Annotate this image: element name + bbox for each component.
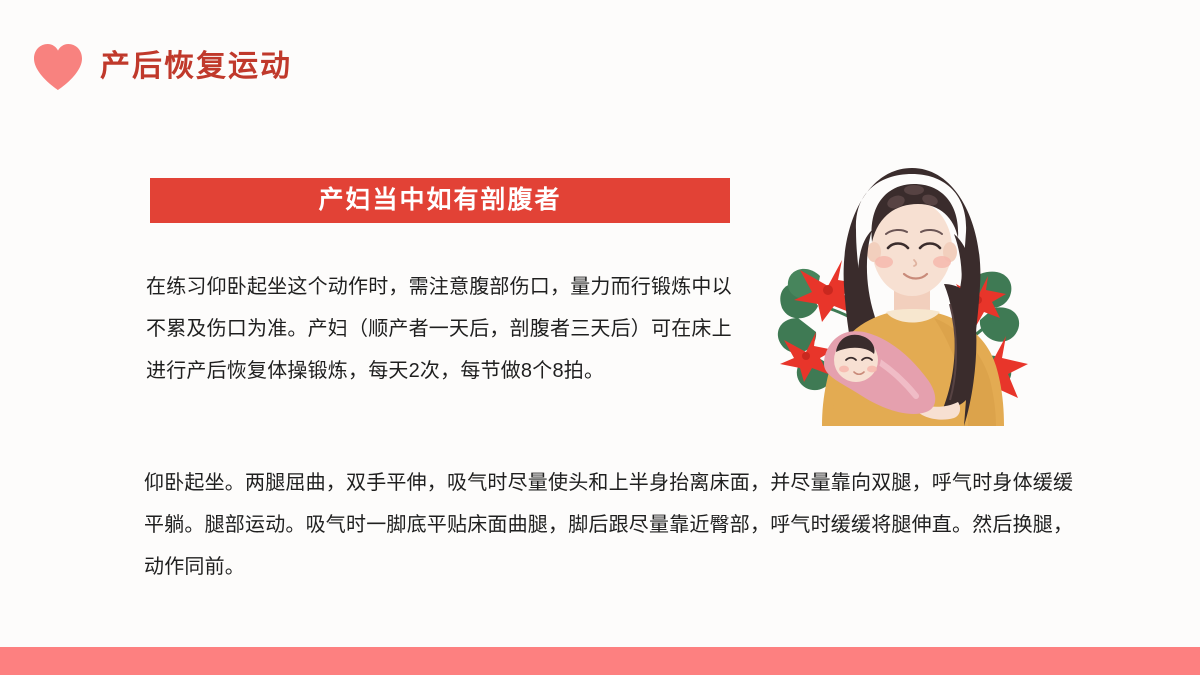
section-banner-label: 产妇当中如有剖腹者 xyxy=(318,188,561,213)
paragraph-primary: 在练习仰卧起坐这个动作时，需注意腹部伤口，量力而行锻炼中以不累及伤口为准。产妇（… xyxy=(146,266,746,392)
section-banner: 产妇当中如有剖腹者 xyxy=(150,178,730,223)
mother-holding-baby-with-flowers-illustration xyxy=(768,168,1058,430)
paragraph-secondary: 仰卧起坐。两腿屈曲，双手平伸，吸气时尽量使头和上半身抬离床面，并尽量靠向双腿，呼… xyxy=(144,462,1084,588)
heart-icon xyxy=(32,42,84,92)
page-title: 产后恢复运动 xyxy=(100,52,292,82)
slide: 产后恢复运动 产妇当中如有剖腹者 在练习仰卧起坐这个动作时，需注意腹部伤口，量力… xyxy=(0,0,1200,675)
footer-bar xyxy=(0,647,1200,675)
slide-header: 产后恢复运动 xyxy=(32,42,292,92)
